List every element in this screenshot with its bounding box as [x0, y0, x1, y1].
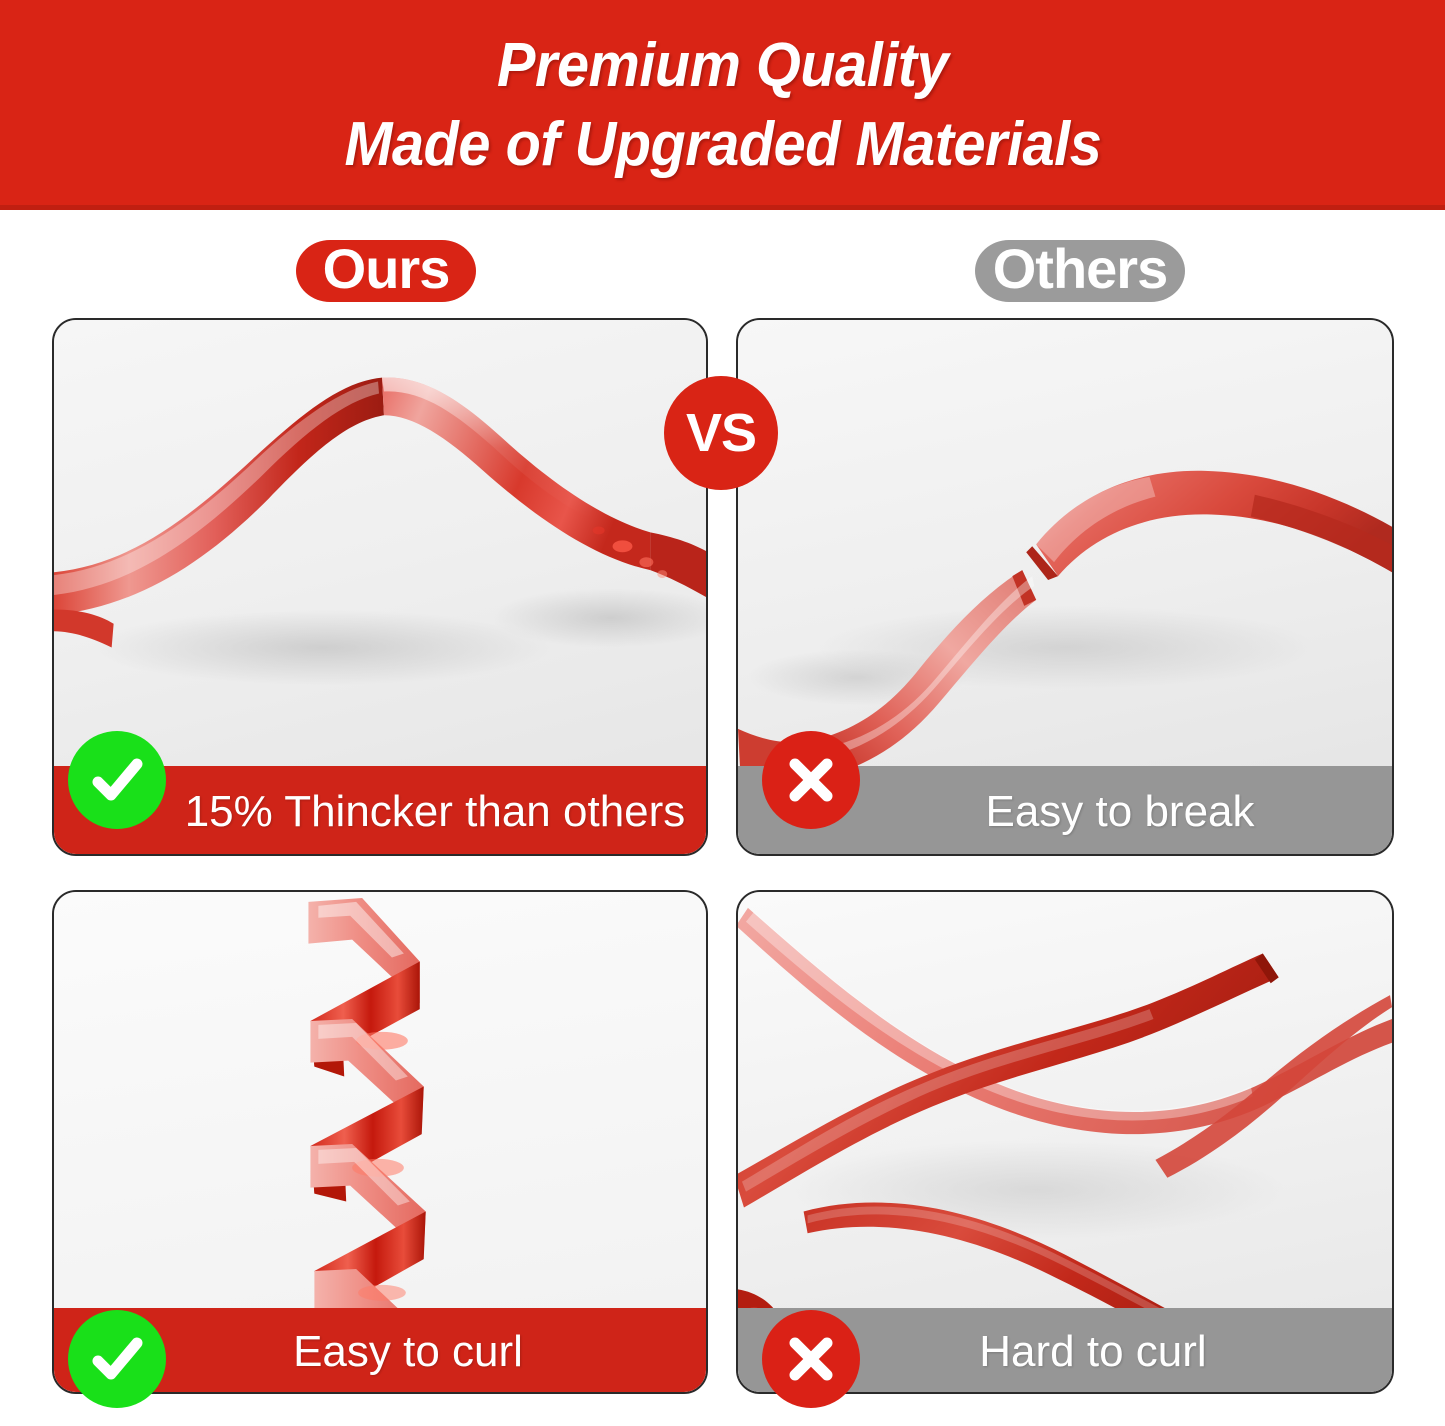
check-icon: [68, 731, 166, 829]
check-glyph: [86, 749, 148, 811]
panel-ours-curl: Easy to curl: [52, 890, 708, 1394]
ours-label-text: Ours: [323, 241, 450, 297]
ours-label-pill: Ours: [296, 240, 476, 302]
header-banner: Premium Quality Made of Upgraded Materia…: [0, 0, 1445, 210]
vs-badge-label: VS: [686, 406, 756, 460]
cross-icon: [762, 1310, 860, 1408]
column-labels: Ours Others: [0, 240, 1445, 306]
vs-badge: VS: [664, 376, 778, 490]
cross-glyph: [782, 1330, 840, 1388]
check-glyph: [86, 1328, 148, 1390]
others-label-text: Others: [993, 241, 1168, 297]
others-label-pill: Others: [975, 240, 1185, 302]
check-icon: [68, 1310, 166, 1408]
cross-icon: [762, 731, 860, 829]
header-title-line-2: Made of Upgraded Materials: [344, 105, 1101, 184]
header-title-line-1: Premium Quality: [497, 26, 948, 105]
cross-glyph: [782, 751, 840, 809]
